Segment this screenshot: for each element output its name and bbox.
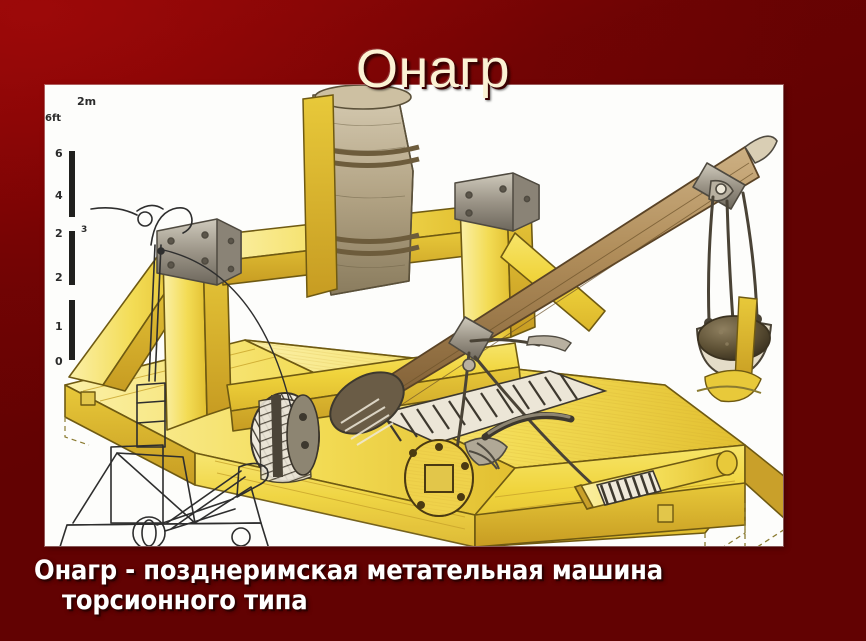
- metal-bracket-right: [455, 173, 539, 231]
- slide-caption: Онагр - позднеримская метательная машина…: [26, 556, 846, 616]
- onager-illustration-svg: 2m 6ft 6 4 3 2 2 1 0 0: [45, 85, 783, 546]
- scale-segment-mid: [69, 231, 75, 285]
- caption-line-2: торсионного типа: [26, 586, 846, 616]
- scale-tick-0: 0: [55, 355, 63, 368]
- scale-segment-upper: [69, 151, 75, 217]
- crossbar-support-post: [303, 95, 337, 297]
- scale-tick-1: 1: [55, 320, 63, 333]
- caption-line-1: Онагр - позднеримская метательная машина: [26, 556, 846, 586]
- scale-segment-lower: [69, 300, 75, 360]
- scale-tick-4: 4: [55, 189, 63, 202]
- scale-tick-6: 6: [55, 147, 63, 160]
- torsion-bundle-left: [251, 393, 319, 483]
- scale-tick-3: 3: [81, 225, 87, 235]
- presentation-slide: Онагр: [0, 0, 866, 641]
- stone-projectile: [698, 316, 770, 360]
- page-title: Онагр: [0, 38, 866, 100]
- scale-imperial-label: 6ft: [45, 113, 61, 124]
- mortise-right: [658, 505, 673, 522]
- onager-illustration: 2m 6ft 6 4 3 2 2 1 0 0: [45, 85, 783, 546]
- scale-tick-2b: 2: [55, 227, 63, 240]
- mortise-left: [81, 392, 95, 405]
- scale-tick-2: 2: [55, 271, 63, 284]
- drum-axle-socket: [425, 465, 453, 492]
